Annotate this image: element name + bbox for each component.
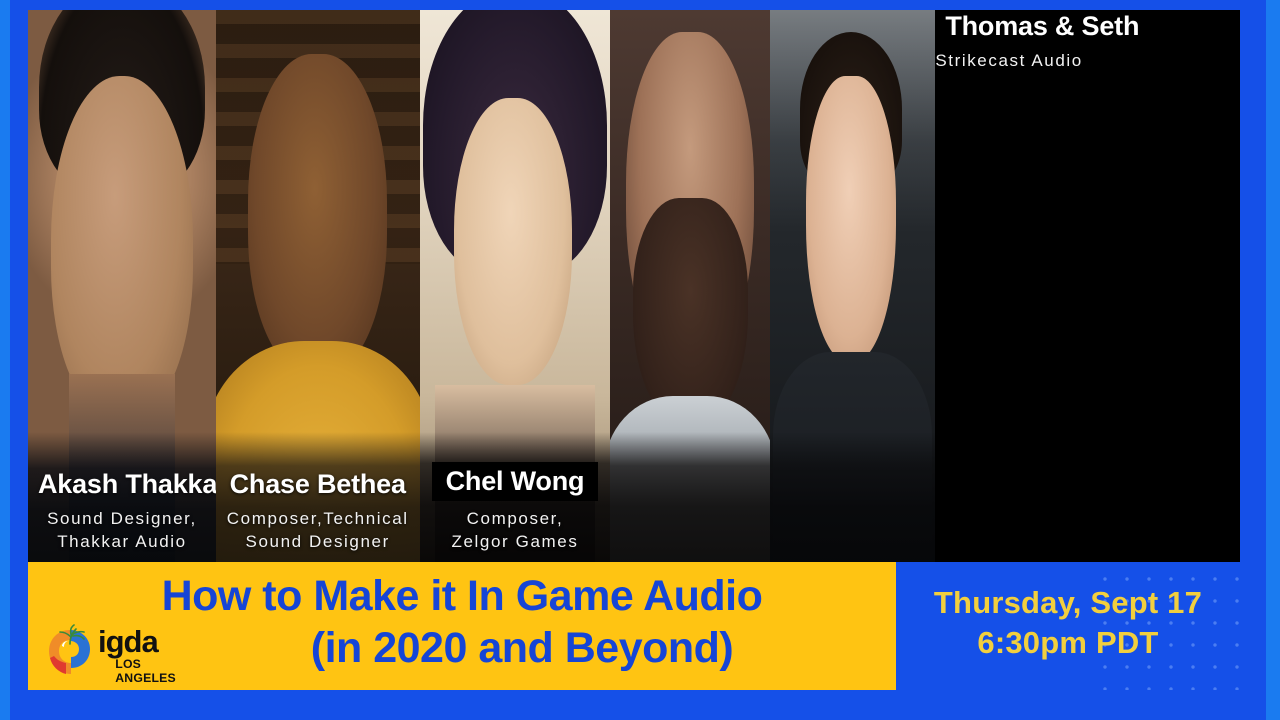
speaker-role-line-1: Sound Designer, bbox=[28, 508, 216, 531]
speaker-role-line-1: Composer, bbox=[420, 508, 611, 531]
poster-content: Akash Thakkar Sound Designer, Thakkar Au… bbox=[28, 10, 1240, 690]
frame-accent-left bbox=[0, 0, 10, 720]
event-time: 6:30pm PDT bbox=[896, 623, 1240, 663]
speaker-name: Chel Wong bbox=[432, 462, 599, 501]
speaker-role: Composer, Zelgor Games bbox=[420, 508, 611, 554]
event-date-block: Thursday, Sept 17 6:30pm PDT bbox=[896, 562, 1240, 690]
speaker-role: Composer,Technical Sound Designer bbox=[216, 508, 420, 554]
event-title-line-1: How to Make it In Game Audio bbox=[28, 572, 896, 621]
speaker-role-line-1: Strikecast Audio bbox=[935, 50, 1240, 73]
speaker-panel-akash-thakkar: Akash Thakkar Sound Designer, Thakkar Au… bbox=[28, 10, 216, 562]
speaker-caption: Akash Thakkar Sound Designer, Thakkar Au… bbox=[28, 468, 216, 562]
speaker-role: Strikecast Audio bbox=[935, 50, 1240, 73]
speaker-role: Sound Designer, Thakkar Audio bbox=[28, 508, 216, 554]
title-block: How to Make it In Game Audio (in 2020 an… bbox=[28, 562, 896, 690]
igda-la-logo: igda LOS ANGELES bbox=[40, 624, 190, 682]
photo-scrim-overlay bbox=[610, 432, 769, 562]
photo-face-shape bbox=[51, 76, 194, 418]
event-title-line-2: (in 2020 and Beyond) bbox=[148, 624, 896, 673]
poster-bottom-bar: How to Make it In Game Audio (in 2020 an… bbox=[28, 562, 1240, 690]
speaker-caption-thomas-and-seth: Thomas & Seth Strikecast Audio bbox=[935, 10, 1240, 562]
speaker-panel-thomas bbox=[610, 10, 769, 562]
igda-chapter-label: LOS ANGELES bbox=[115, 657, 190, 685]
igda-swirl-palm-icon bbox=[40, 624, 100, 680]
event-promo-poster: Akash Thakkar Sound Designer, Thakkar Au… bbox=[0, 0, 1280, 720]
event-date: Thursday, Sept 17 bbox=[896, 583, 1240, 623]
speaker-name: Thomas & Seth bbox=[935, 10, 1149, 43]
speaker-role-line-2: Sound Designer bbox=[216, 531, 420, 554]
speaker-role-line-2: Zelgor Games bbox=[420, 531, 611, 554]
speaker-role-line-2: Thakkar Audio bbox=[28, 531, 216, 554]
photo-head-shape bbox=[248, 54, 386, 374]
photo-face-shape bbox=[806, 76, 895, 363]
speaker-panel-chel-wong: Chel Wong Composer, Zelgor Games bbox=[420, 10, 611, 562]
photo-scrim-overlay bbox=[770, 432, 935, 562]
speaker-caption: Chase Bethea Composer,Technical Sound De… bbox=[216, 468, 420, 562]
speaker-panel-seth bbox=[770, 10, 935, 562]
speaker-name: Akash Thakkar bbox=[28, 468, 216, 501]
speaker-caption: Chel Wong Composer, Zelgor Games bbox=[420, 462, 611, 562]
speaker-name: Chase Bethea bbox=[220, 468, 416, 501]
photo-beard-shape bbox=[633, 198, 748, 430]
speaker-panel-chase-bethea: Chase Bethea Composer,Technical Sound De… bbox=[216, 10, 420, 562]
speaker-role-line-1: Composer,Technical bbox=[216, 508, 420, 531]
event-datetime: Thursday, Sept 17 6:30pm PDT bbox=[896, 583, 1240, 664]
igda-wordmark: igda bbox=[98, 626, 158, 657]
frame-accent-right bbox=[1266, 0, 1280, 720]
speaker-photo-strip: Akash Thakkar Sound Designer, Thakkar Au… bbox=[28, 10, 1240, 562]
photo-face-shape bbox=[454, 98, 572, 385]
